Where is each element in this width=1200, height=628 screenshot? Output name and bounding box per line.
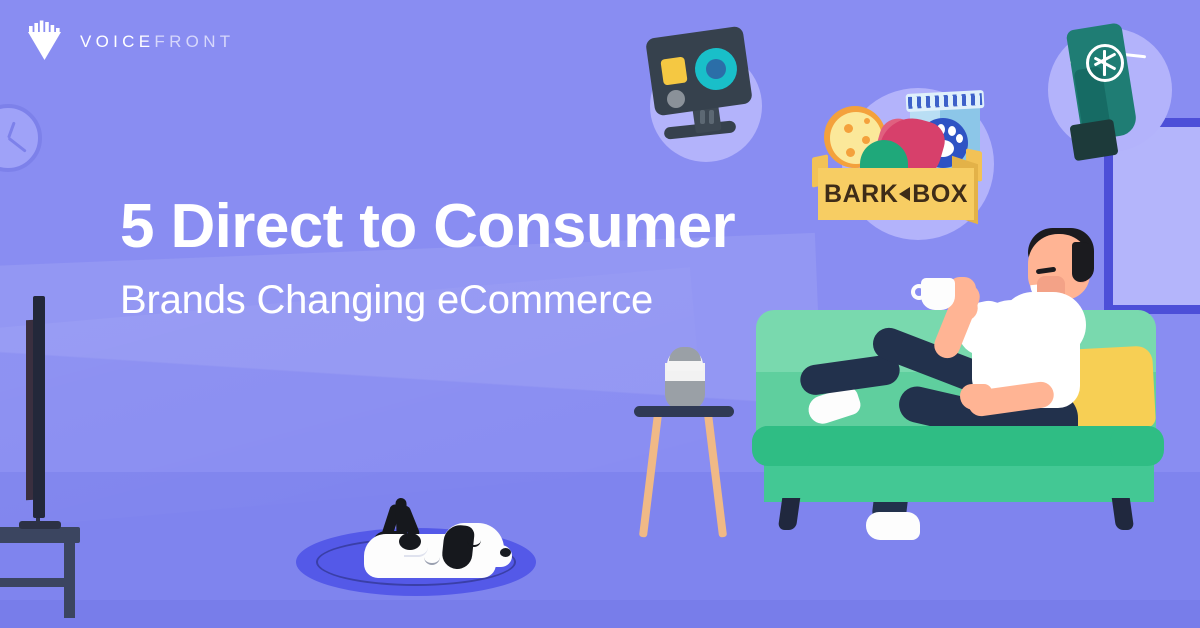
paw-print-toe — [948, 126, 956, 136]
camera-mount-prong-left — [700, 110, 705, 124]
dog-toy-dot — [844, 124, 853, 133]
floor-shadow — [0, 600, 1200, 628]
hero-banner: BARK BOX VOICEFRONT 5 Direct to Consumer… — [0, 0, 1200, 628]
side-table-icon — [634, 406, 734, 417]
brand-logo[interactable]: VOICEFRONT — [24, 20, 234, 62]
camera-mount-prong-right — [709, 110, 714, 124]
brand-name-voice: VOICE — [80, 32, 154, 51]
dog-toy-dot — [864, 118, 870, 124]
dog-toy-dot — [862, 136, 870, 144]
barkbox-bone-mark-icon — [899, 187, 910, 201]
clock-hour-hand — [7, 122, 16, 139]
clock-minute-hand — [8, 137, 27, 153]
mug-icon — [921, 278, 955, 310]
tv-stand-rail — [0, 578, 74, 587]
dog-nose — [500, 548, 511, 557]
man-foot-back — [866, 512, 920, 540]
page-subtitle: Brands Changing eCommerce — [120, 278, 880, 322]
brand-logo-text: VOICEFRONT — [80, 33, 234, 50]
voicefront-crown-shield-icon — [24, 20, 66, 62]
tv-stand-leg-right — [64, 540, 75, 618]
camera-display-panel — [660, 56, 687, 85]
barkbox-word-box: BOX — [912, 180, 968, 209]
camera-shutter-button — [667, 90, 685, 108]
hero-text-block: 5 Direct to Consumer Brands Changing eCo… — [120, 194, 880, 322]
man-hair-side — [1072, 242, 1094, 282]
sofa-arm-right — [1110, 426, 1162, 464]
man-resting-hand — [960, 384, 992, 410]
camera-lens-glass — [706, 59, 726, 79]
tv-icon — [33, 296, 45, 518]
tv-base — [19, 521, 61, 529]
tube-cap — [1069, 119, 1118, 161]
sofa-seat — [752, 426, 1164, 466]
page-title: 5 Direct to Consumer — [120, 194, 880, 260]
sofa-arm-left — [752, 426, 810, 464]
brand-name-front: FRONT — [154, 32, 234, 51]
dog-toy-dot — [846, 148, 855, 157]
paw-print-toe — [956, 134, 963, 143]
man-shoulder — [1000, 292, 1086, 358]
